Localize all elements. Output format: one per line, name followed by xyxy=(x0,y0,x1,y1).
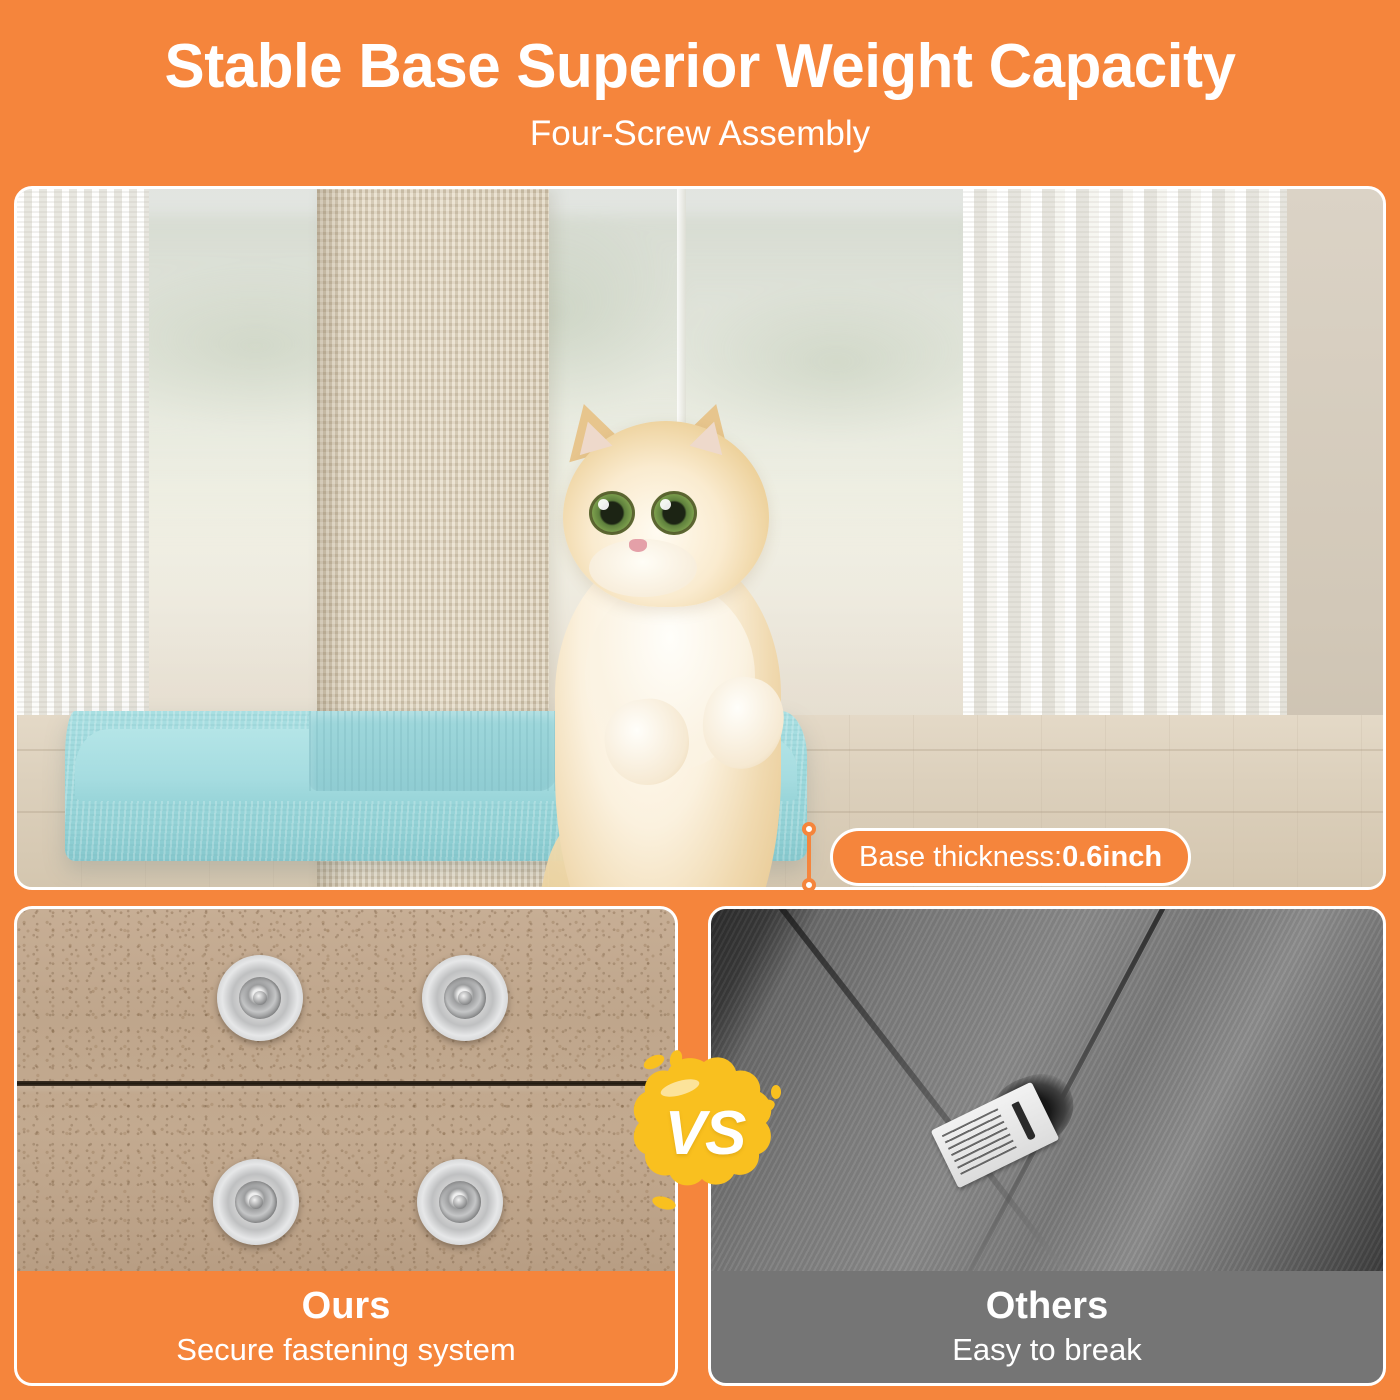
others-footer: Others Easy to break xyxy=(711,1271,1383,1383)
header-band: Stable Base Superior Weight Capacity Fou… xyxy=(0,0,1400,186)
cat-photo-subject xyxy=(533,399,843,887)
page-subtitle: Four-Screw Assembly xyxy=(530,115,870,154)
cat-eye-left xyxy=(589,491,635,535)
comparison-panel-others: Others Easy to break xyxy=(708,906,1386,1386)
callout-label: Base thickness: xyxy=(859,841,1062,874)
cat-nose xyxy=(629,539,647,552)
base-thickness-callout: Base thickness:0.6inch xyxy=(830,828,1191,886)
screw-washer-icon xyxy=(417,1159,503,1245)
ours-photo xyxy=(17,909,675,1271)
measure-endpoint-top-icon xyxy=(802,822,816,836)
others-subtitle: Easy to break xyxy=(952,1332,1142,1368)
others-photo xyxy=(711,909,1383,1271)
hero-scene xyxy=(17,189,1383,887)
vs-label: VS xyxy=(620,1048,790,1218)
others-title: Others xyxy=(986,1286,1108,1328)
screw-washer-icon xyxy=(213,1159,299,1245)
hero-photo-panel xyxy=(14,186,1386,890)
vs-badge: VS xyxy=(620,1048,790,1218)
particleboard-surface xyxy=(17,909,675,1271)
thickness-measure-indicator xyxy=(802,822,816,892)
post-base-skirt xyxy=(309,711,557,791)
screw-washer-icon xyxy=(422,955,508,1041)
measure-endpoint-bottom-icon xyxy=(802,878,816,892)
product-infographic: Stable Base Superior Weight Capacity Fou… xyxy=(0,0,1400,1400)
ours-footer: Ours Secure fastening system xyxy=(17,1271,675,1383)
screw-washer-icon xyxy=(217,955,303,1041)
board-seam-line xyxy=(17,1081,675,1086)
cat-eye-right xyxy=(651,491,697,535)
measure-bar xyxy=(807,829,811,885)
page-title: Stable Base Superior Weight Capacity xyxy=(165,34,1236,99)
ours-subtitle: Secure fastening system xyxy=(176,1332,515,1368)
ours-title: Ours xyxy=(302,1286,391,1328)
comparison-panel-ours: Ours Secure fastening system xyxy=(14,906,678,1386)
callout-value: 0.6inch xyxy=(1062,841,1162,874)
